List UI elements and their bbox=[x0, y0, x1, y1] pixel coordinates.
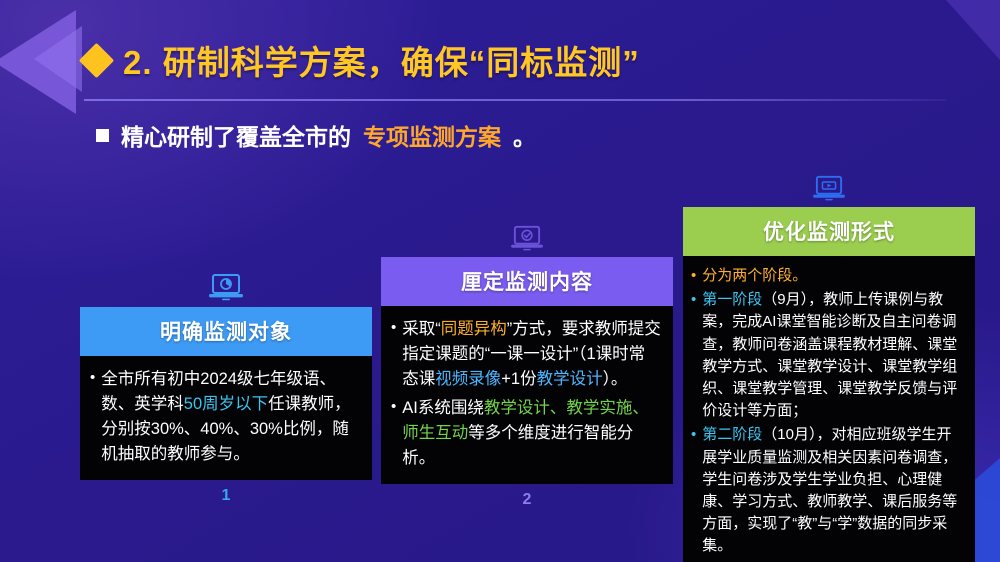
subtitle-text: 精心研制了覆盖全市的 bbox=[121, 118, 351, 152]
card-1-icon-wrap bbox=[80, 259, 372, 303]
card-2-header: 厘定监测内容 bbox=[381, 257, 673, 306]
text-segment: （10月），对相应班级学生开展学业质量监测及相关因素问卷调查，学生问卷涉及学生学… bbox=[702, 426, 957, 554]
card-3-icon-wrap bbox=[683, 159, 975, 203]
card-2-bullet-list: •采取“同题异构”方式，要求教师提交指定课题的“一课一设计”（1课时常态课视频录… bbox=[391, 317, 661, 471]
text-segment: 教学设计 bbox=[537, 370, 603, 388]
bullet-marker-icon: • bbox=[691, 289, 696, 422]
card-3-bullet-item: •第一阶段（9月），教师上传课例与教案，完成AI课堂智能诊断及自主问卷调查，教师… bbox=[691, 289, 965, 422]
card-2-body: •采取“同题异构”方式，要求教师提交指定课题的“一课一设计”（1课时常态课视频录… bbox=[381, 306, 673, 484]
card-2-bullet-item: •采取“同题异构”方式，要求教师提交指定课题的“一课一设计”（1课时常态课视频录… bbox=[391, 317, 661, 392]
text-segment: ）。 bbox=[603, 370, 628, 388]
text-segment: 第二阶段 bbox=[702, 426, 762, 443]
subtitle-highlight: 专项监测方案 bbox=[363, 118, 501, 152]
card-1-bullet-list: •全市所有初中2024级七年级语、数、英学科50周岁以下任课教师，分别按30%、… bbox=[90, 367, 360, 467]
laptop-check-icon bbox=[510, 225, 544, 253]
laptop-chart-icon bbox=[208, 273, 244, 303]
card-3[interactable]: 优化监测形式 •分为两个阶段。•第一阶段（9月），教师上传课例与教案，完成AI课… bbox=[683, 159, 975, 562]
bullet-marker-icon: • bbox=[691, 265, 696, 287]
slide-title-row: 2. 研制科学方案，确保“同标监测” bbox=[84, 36, 640, 84]
text-segment: 分为两个阶段。 bbox=[702, 267, 807, 284]
text-segment: 采取“ bbox=[402, 320, 441, 338]
text-segment: （9月），教师上传课例与教案，完成AI课堂智能诊断及自主问卷调查，教师问卷涵盖课… bbox=[702, 291, 957, 419]
card-2-number: 2 bbox=[381, 491, 673, 509]
card-2-bullet-text: AI系统围绕教学设计、教学实施、师生互动等多个维度进行智能分析。 bbox=[402, 396, 661, 471]
subtitle-row: 精心研制了覆盖全市的专项监测方案。 bbox=[96, 118, 536, 152]
card-2[interactable]: 厘定监测内容 •采取“同题异构”方式，要求教师提交指定课题的“一课一设计”（1课… bbox=[381, 209, 673, 509]
text-segment: 同题异构 bbox=[441, 320, 507, 338]
card-2-bullet-text: 采取“同题异构”方式，要求教师提交指定课题的“一课一设计”（1课时常态课视频录像… bbox=[402, 317, 661, 392]
laptop-video-icon bbox=[812, 175, 846, 203]
card-3-bullet-text: 第二阶段（10月），对相应班级学生开展学业质量监测及相关因素问卷调查，学生问卷涉… bbox=[702, 424, 965, 557]
card-1[interactable]: 明确监测对象 •全市所有初中2024级七年级语、数、英学科50周岁以下任课教师，… bbox=[80, 259, 372, 505]
decorative-triangle-top-left bbox=[0, 10, 76, 114]
card-3-bullet-item: •分为两个阶段。 bbox=[691, 265, 965, 287]
text-segment: +1份 bbox=[501, 370, 536, 388]
bullet-marker-icon: • bbox=[391, 317, 396, 392]
square-bullet-icon bbox=[96, 129, 109, 142]
text-segment: 50周岁以下 bbox=[184, 395, 268, 413]
card-2-bullet-item: •AI系统围绕教学设计、教学实施、师生互动等多个维度进行智能分析。 bbox=[391, 396, 661, 471]
card-1-bullet-item: •全市所有初中2024级七年级语、数、英学科50周岁以下任课教师，分别按30%、… bbox=[90, 367, 360, 467]
card-3-bullet-text: 第一阶段（9月），教师上传课例与教案，完成AI课堂智能诊断及自主问卷调查，教师问… bbox=[702, 289, 965, 422]
decorative-triangle-top-right bbox=[946, 0, 1000, 60]
card-3-bullet-item: •第二阶段（10月），对相应班级学生开展学业质量监测及相关因素问卷调查，学生问卷… bbox=[691, 424, 965, 557]
decorative-triangle-top-left-inner bbox=[34, 26, 82, 92]
slide-canvas: 2. 研制科学方案，确保“同标监测” 精心研制了覆盖全市的专项监测方案。 明确监… bbox=[0, 0, 1000, 562]
card-2-icon-wrap bbox=[381, 209, 673, 253]
card-1-bullet-text: 全市所有初中2024级七年级语、数、英学科50周岁以下任课教师，分别按30%、4… bbox=[101, 367, 360, 467]
title-divider bbox=[84, 99, 946, 101]
text-segment: 视频录像 bbox=[435, 370, 501, 388]
bullet-marker-icon: • bbox=[691, 424, 696, 557]
diamond-bullet-icon bbox=[79, 42, 114, 77]
card-3-bullet-list: •分为两个阶段。•第一阶段（9月），教师上传课例与教案，完成AI课堂智能诊断及自… bbox=[691, 265, 965, 557]
subtitle-period: 。 bbox=[513, 118, 536, 152]
card-1-body: •全市所有初中2024级七年级语、数、英学科50周岁以下任课教师，分别按30%、… bbox=[80, 356, 372, 480]
page-title: 2. 研制科学方案，确保“同标监测” bbox=[123, 36, 640, 84]
card-1-header: 明确监测对象 bbox=[80, 307, 372, 356]
text-segment: 第一阶段 bbox=[702, 291, 762, 308]
card-1-number: 1 bbox=[80, 487, 372, 505]
bullet-marker-icon: • bbox=[90, 367, 95, 467]
text-segment: AI系统围绕 bbox=[402, 399, 484, 417]
card-3-body: •分为两个阶段。•第一阶段（9月），教师上传课例与教案，完成AI课堂智能诊断及自… bbox=[683, 256, 975, 562]
card-3-bullet-text: 分为两个阶段。 bbox=[702, 265, 965, 287]
bullet-marker-icon: • bbox=[391, 396, 396, 471]
card-3-header: 优化监测形式 bbox=[683, 207, 975, 256]
